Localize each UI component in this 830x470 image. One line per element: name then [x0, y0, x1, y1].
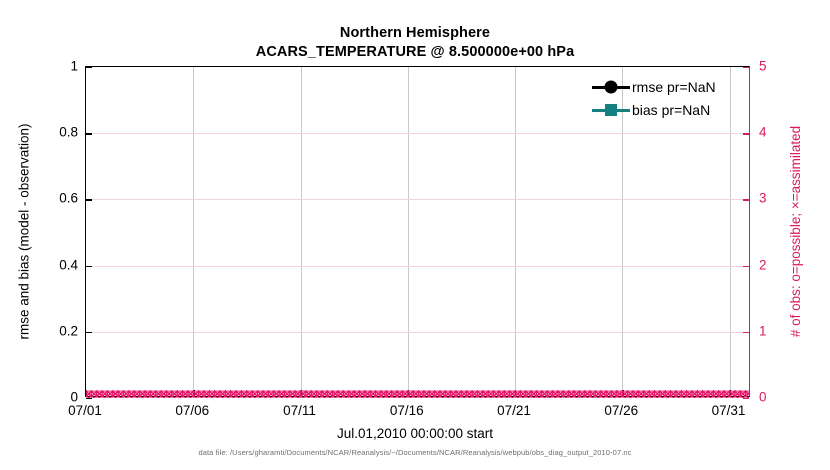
obs-assimilated-marker: × [110, 387, 121, 402]
obs-assimilated-marker: × [346, 387, 357, 402]
obs-possible-marker: o [380, 387, 388, 402]
obs-assimilated-marker: × [518, 387, 529, 402]
chart-title: Northern Hemisphere ACARS_TEMPERATURE @ … [0, 24, 830, 62]
legend-item-bias: bias pr=NaN [592, 101, 716, 119]
y-tick-label-left: 1 [30, 59, 78, 74]
obs-assimilated-marker: × [341, 387, 352, 402]
obs-assimilated-marker: × [453, 387, 464, 402]
obs-possible-marker: o [101, 387, 109, 402]
obs-assimilated-marker: × [137, 387, 148, 402]
obs-possible-marker: o [229, 387, 237, 402]
obs-assimilated-marker: × [389, 387, 400, 402]
obs-assimilated-marker: × [603, 387, 614, 402]
obs-possible-marker: o [589, 387, 597, 402]
obs-assimilated-marker: × [367, 387, 378, 402]
obs-assimilated-marker: × [544, 387, 555, 402]
obs-possible-marker: o [600, 387, 608, 402]
obs-assimilated-marker: × [298, 387, 309, 402]
obs-assimilated-marker: × [716, 387, 727, 402]
obs-possible-marker: o [696, 387, 704, 402]
obs-assimilated-marker: × [684, 387, 695, 402]
obs-possible-marker: o [417, 387, 425, 402]
obs-possible-marker: o [664, 387, 672, 402]
obs-assimilated-marker: × [459, 387, 470, 402]
obs-assimilated-marker: × [266, 387, 277, 402]
obs-assimilated-marker: × [657, 387, 668, 402]
obs-assimilated-marker: × [249, 387, 260, 402]
obs-assimilated-marker: × [668, 387, 679, 402]
obs-possible-marker: o [203, 387, 211, 402]
obs-possible-marker: o [283, 387, 291, 402]
obs-possible-marker: o [396, 387, 404, 402]
title-line-region: Northern Hemisphere [0, 24, 830, 43]
obs-possible-marker: o [112, 387, 120, 402]
obs-possible-marker: o [583, 387, 591, 402]
obs-possible-marker: o [219, 387, 227, 402]
obs-possible-marker: o [455, 387, 463, 402]
obs-possible-marker: o [224, 387, 232, 402]
obs-assimilated-marker: × [319, 387, 330, 402]
obs-assimilated-marker: × [700, 387, 711, 402]
obs-assimilated-marker: × [244, 387, 255, 402]
obs-possible-marker: o [449, 387, 457, 402]
y-axis-label-left: rmse and bias (model - observation) [14, 66, 34, 397]
obs-possible-marker: o [342, 387, 350, 402]
obs-assimilated-marker: × [325, 387, 336, 402]
obs-possible-marker: o [460, 387, 468, 402]
obs-possible-marker: o [171, 387, 179, 402]
chart-legend: rmse pr=NaN bias pr=NaN [592, 78, 716, 119]
x-tick-label: 07/11 [283, 403, 316, 418]
obs-possible-marker: o [465, 387, 473, 402]
obs-possible-marker: o [390, 387, 398, 402]
obs-assimilated-marker: × [207, 387, 218, 402]
obs-possible-marker: o [288, 387, 296, 402]
obs-possible-marker: o [267, 387, 275, 402]
obs-possible-marker: o [310, 387, 318, 402]
x-tick [515, 390, 516, 396]
obs-assimilated-marker: × [609, 387, 620, 402]
square-marker-icon [592, 101, 630, 119]
y-tick-left [86, 332, 92, 333]
obs-possible-marker: o [337, 387, 345, 402]
obs-possible-marker: o [626, 387, 634, 402]
obs-assimilated-marker: × [539, 387, 550, 402]
obs-possible-marker: o [642, 387, 650, 402]
obs-assimilated-marker: × [314, 387, 325, 402]
horizontal-gridline [86, 133, 749, 134]
obs-possible-marker: o [423, 387, 431, 402]
obs-assimilated-marker: × [711, 387, 722, 402]
obs-assimilated-marker: × [593, 387, 604, 402]
y-axis-label-left-text: rmse and bias (model - observation) [17, 123, 32, 339]
obs-assimilated-marker: × [169, 387, 180, 402]
obs-possible-marker: o [106, 387, 114, 402]
obs-assimilated-marker: × [743, 387, 749, 402]
obs-possible-marker: o [358, 387, 366, 402]
obs-possible-marker: o [154, 387, 162, 402]
obs-possible-marker: o [567, 387, 575, 402]
x-tick [193, 390, 194, 396]
y-axis-label-right: # of obs: o=possible; ×=assimilated [786, 66, 806, 397]
obs-assimilated-marker: × [587, 387, 598, 402]
obs-assimilated-marker: × [566, 387, 577, 402]
horizontal-gridline [86, 266, 749, 267]
obs-assimilated-marker: × [625, 387, 636, 402]
observation-marker-band: oooooooooooooooooooooooooooooooooooooooo… [86, 387, 749, 402]
obs-assimilated-marker: × [164, 387, 175, 402]
obs-possible-marker: o [578, 387, 586, 402]
obs-possible-marker: o [680, 387, 688, 402]
obs-assimilated-marker: × [410, 387, 421, 402]
obs-assimilated-marker: × [689, 387, 700, 402]
y-tick-left [86, 67, 92, 68]
obs-possible-marker: o [551, 387, 559, 402]
obs-possible-marker: o [648, 387, 656, 402]
obs-assimilated-marker: × [105, 387, 116, 402]
obs-assimilated-marker: × [571, 387, 582, 402]
obs-assimilated-marker: × [126, 387, 137, 402]
obs-possible-marker: o [594, 387, 602, 402]
obs-assimilated-marker: × [276, 387, 287, 402]
obs-assimilated-marker: × [561, 387, 572, 402]
obs-assimilated-marker: × [330, 387, 341, 402]
y-tick-label-right: 3 [759, 191, 767, 206]
obs-possible-marker: o [659, 387, 667, 402]
obs-possible-marker: o [482, 387, 490, 402]
obs-assimilated-marker: × [335, 387, 346, 402]
obs-assimilated-marker: × [228, 387, 239, 402]
obs-possible-marker: o [739, 387, 747, 402]
x-tick-label: 07/31 [712, 403, 746, 418]
obs-possible-marker: o [535, 387, 543, 402]
obs-possible-marker: o [240, 387, 248, 402]
obs-assimilated-marker: × [239, 387, 250, 402]
obs-assimilated-marker: × [174, 387, 185, 402]
obs-possible-marker: o [262, 387, 270, 402]
obs-assimilated-marker: × [255, 387, 266, 402]
obs-assimilated-marker: × [351, 387, 362, 402]
obs-possible-marker: o [256, 387, 264, 402]
obs-possible-marker: o [95, 387, 103, 402]
obs-possible-marker: o [498, 387, 506, 402]
obs-possible-marker: o [546, 387, 554, 402]
x-tick-label: 07/01 [68, 403, 102, 418]
obs-possible-marker: o [691, 387, 699, 402]
obs-assimilated-marker: × [426, 387, 437, 402]
obs-possible-marker: o [541, 387, 549, 402]
obs-assimilated-marker: × [662, 387, 673, 402]
obs-assimilated-marker: × [131, 387, 142, 402]
obs-assimilated-marker: × [502, 387, 513, 402]
obs-possible-marker: o [208, 387, 216, 402]
obs-assimilated-marker: × [630, 387, 641, 402]
obs-assimilated-marker: × [212, 387, 223, 402]
obs-assimilated-marker: × [652, 387, 663, 402]
obs-assimilated-marker: × [394, 387, 405, 402]
obs-assimilated-marker: × [475, 387, 486, 402]
x-tick [86, 390, 87, 396]
obs-assimilated-marker: × [303, 387, 314, 402]
obs-assimilated-marker: × [550, 387, 561, 402]
obs-possible-marker: o [272, 387, 280, 402]
obs-possible-marker: o [701, 387, 709, 402]
y-tick-label-left: 0 [30, 390, 78, 405]
obs-assimilated-marker: × [196, 387, 207, 402]
title-line-variable: ACARS_TEMPERATURE @ 8.500000e+00 hPa [0, 43, 830, 62]
obs-possible-marker: o [471, 387, 479, 402]
obs-possible-marker: o [278, 387, 286, 402]
obs-possible-marker: o [487, 387, 495, 402]
legend-label-bias: bias pr=NaN [630, 102, 710, 118]
obs-possible-marker: o [353, 387, 361, 402]
obs-possible-marker: o [718, 387, 726, 402]
obs-possible-marker: o [653, 387, 661, 402]
obs-possible-marker: o [133, 387, 141, 402]
obs-possible-marker: o [503, 387, 511, 402]
obs-possible-marker: o [122, 387, 130, 402]
obs-assimilated-marker: × [94, 387, 105, 402]
obs-assimilated-marker: × [432, 387, 443, 402]
y-tick-right [743, 199, 749, 200]
obs-possible-marker: o [347, 387, 355, 402]
obs-assimilated-marker: × [190, 387, 201, 402]
x-tick [408, 390, 409, 396]
obs-possible-marker: o [90, 387, 98, 402]
y-tick-label-right: 0 [759, 390, 767, 405]
x-tick-label: 07/21 [497, 403, 531, 418]
obs-possible-marker: o [364, 387, 372, 402]
obs-possible-marker: o [176, 387, 184, 402]
obs-possible-marker: o [573, 387, 581, 402]
obs-possible-marker: o [632, 387, 640, 402]
obs-assimilated-marker: × [421, 387, 432, 402]
obs-possible-marker: o [428, 387, 436, 402]
obs-assimilated-marker: × [115, 387, 126, 402]
obs-possible-marker: o [213, 387, 221, 402]
x-tick [301, 390, 302, 396]
vertical-gridline [515, 67, 516, 396]
obs-possible-marker: o [519, 387, 527, 402]
obs-assimilated-marker: × [512, 387, 523, 402]
obs-assimilated-marker: × [464, 387, 475, 402]
y-tick-right [743, 332, 749, 333]
x-tick-label: 07/26 [604, 403, 638, 418]
obs-assimilated-marker: × [201, 387, 212, 402]
obs-assimilated-marker: × [641, 387, 652, 402]
obs-possible-marker: o [246, 387, 254, 402]
obs-assimilated-marker: × [282, 387, 293, 402]
y-tick-label-left: 0.8 [30, 125, 78, 140]
x-tick-label: 07/06 [175, 403, 209, 418]
obs-assimilated-marker: × [416, 387, 427, 402]
obs-assimilated-marker: × [496, 387, 507, 402]
obs-possible-marker: o [305, 387, 313, 402]
obs-possible-marker: o [605, 387, 613, 402]
obs-possible-marker: o [530, 387, 538, 402]
obs-assimilated-marker: × [469, 387, 480, 402]
obs-assimilated-marker: × [443, 387, 454, 402]
obs-assimilated-marker: × [357, 387, 368, 402]
obs-possible-marker: o [637, 387, 645, 402]
obs-possible-marker: o [117, 387, 125, 402]
obs-possible-marker: o [439, 387, 447, 402]
y-tick-label-right: 2 [759, 257, 767, 272]
obs-assimilated-marker: × [99, 387, 110, 402]
obs-assimilated-marker: × [636, 387, 647, 402]
obs-assimilated-marker: × [158, 387, 169, 402]
y-tick-right [743, 398, 749, 399]
y-tick-left [86, 199, 92, 200]
horizontal-gridline [86, 199, 749, 200]
obs-possible-marker: o [138, 387, 146, 402]
obs-assimilated-marker: × [480, 387, 491, 402]
data-file-caption: data file: /Users/gharamti/Documents/NCA… [0, 448, 830, 457]
obs-assimilated-marker: × [523, 387, 534, 402]
obs-assimilated-marker: × [598, 387, 609, 402]
obs-assimilated-marker: × [727, 387, 738, 402]
obs-possible-marker: o [675, 387, 683, 402]
obs-assimilated-marker: × [534, 387, 545, 402]
obs-assimilated-marker: × [260, 387, 271, 402]
y-tick-label-right: 5 [759, 59, 767, 74]
y-tick-label-right: 4 [759, 125, 767, 140]
obs-assimilated-marker: × [148, 387, 159, 402]
obs-assimilated-marker: × [121, 387, 132, 402]
obs-possible-marker: o [734, 387, 742, 402]
obs-possible-marker: o [524, 387, 532, 402]
x-tick-label: 07/16 [390, 403, 424, 418]
obs-possible-marker: o [165, 387, 173, 402]
obs-possible-marker: o [610, 387, 618, 402]
vertical-gridline [193, 67, 194, 396]
y-tick-label-left: 0.4 [30, 257, 78, 272]
obs-possible-marker: o [326, 387, 334, 402]
x-axis-label: Jul.01,2010 00:00:00 start [0, 426, 830, 441]
obs-possible-marker: o [235, 387, 243, 402]
obs-assimilated-marker: × [620, 387, 631, 402]
obs-possible-marker: o [744, 387, 749, 402]
x-tick [622, 390, 623, 396]
obs-assimilated-marker: × [646, 387, 657, 402]
obs-possible-marker: o [374, 387, 382, 402]
obs-possible-marker: o [685, 387, 693, 402]
legend-label-rmse: rmse pr=NaN [630, 79, 716, 95]
obs-possible-marker: o [557, 387, 565, 402]
y-tick-right [743, 266, 749, 267]
obs-possible-marker: o [321, 387, 329, 402]
obs-assimilated-marker: × [384, 387, 395, 402]
obs-assimilated-marker: × [738, 387, 749, 402]
obs-assimilated-marker: × [142, 387, 153, 402]
obs-possible-marker: o [412, 387, 420, 402]
obs-assimilated-marker: × [732, 387, 743, 402]
obs-assimilated-marker: × [485, 387, 496, 402]
obs-possible-marker: o [197, 387, 205, 402]
y-tick-right [743, 67, 749, 68]
obs-possible-marker: o [476, 387, 484, 402]
obs-possible-marker: o [160, 387, 168, 402]
vertical-gridline [301, 67, 302, 396]
x-tick [730, 390, 731, 396]
obs-possible-marker: o [315, 387, 323, 402]
obs-possible-marker: o [669, 387, 677, 402]
obs-possible-marker: o [444, 387, 452, 402]
obs-assimilated-marker: × [233, 387, 244, 402]
obs-possible-marker: o [562, 387, 570, 402]
y-tick-label-right: 1 [759, 323, 767, 338]
y-tick-left [86, 398, 92, 399]
horizontal-gridline [86, 332, 749, 333]
obs-assimilated-marker: × [223, 387, 234, 402]
y-tick-right [743, 133, 749, 134]
obs-possible-marker: o [712, 387, 720, 402]
obs-assimilated-marker: × [180, 387, 191, 402]
obs-assimilated-marker: × [308, 387, 319, 402]
obs-possible-marker: o [331, 387, 339, 402]
y-tick-label-left: 0.2 [30, 323, 78, 338]
obs-assimilated-marker: × [695, 387, 706, 402]
obs-assimilated-marker: × [89, 387, 100, 402]
obs-possible-marker: o [144, 387, 152, 402]
obs-assimilated-marker: × [378, 387, 389, 402]
obs-possible-marker: o [385, 387, 393, 402]
obs-assimilated-marker: × [679, 387, 690, 402]
obs-assimilated-marker: × [373, 387, 384, 402]
obs-assimilated-marker: × [582, 387, 593, 402]
vertical-gridline [730, 67, 731, 396]
obs-assimilated-marker: × [491, 387, 502, 402]
obs-assimilated-marker: × [271, 387, 282, 402]
obs-assimilated-marker: × [705, 387, 716, 402]
obs-possible-marker: o [149, 387, 157, 402]
legend-item-rmse: rmse pr=NaN [592, 78, 716, 96]
obs-assimilated-marker: × [437, 387, 448, 402]
obs-assimilated-marker: × [153, 387, 164, 402]
y-tick-left [86, 266, 92, 267]
obs-assimilated-marker: × [673, 387, 684, 402]
circle-marker-icon [592, 78, 630, 96]
obs-assimilated-marker: × [405, 387, 416, 402]
obs-assimilated-marker: × [555, 387, 566, 402]
obs-possible-marker: o [492, 387, 500, 402]
y-tick-label-left: 0.6 [30, 191, 78, 206]
obs-possible-marker: o [251, 387, 259, 402]
obs-possible-marker: o [369, 387, 377, 402]
y-axis-label-right-text: # of obs: o=possible; ×=assimilated [789, 126, 804, 337]
obs-possible-marker: o [707, 387, 715, 402]
obs-possible-marker: o [433, 387, 441, 402]
obs-assimilated-marker: × [448, 387, 459, 402]
obs-possible-marker: o [181, 387, 189, 402]
obs-assimilated-marker: × [287, 387, 298, 402]
obs-assimilated-marker: × [362, 387, 373, 402]
obs-possible-marker: o [128, 387, 136, 402]
obs-assimilated-marker: × [577, 387, 588, 402]
y-tick-left [86, 133, 92, 134]
vertical-gridline [408, 67, 409, 396]
obs-assimilated-marker: × [528, 387, 539, 402]
obs-assimilated-marker: × [217, 387, 228, 402]
